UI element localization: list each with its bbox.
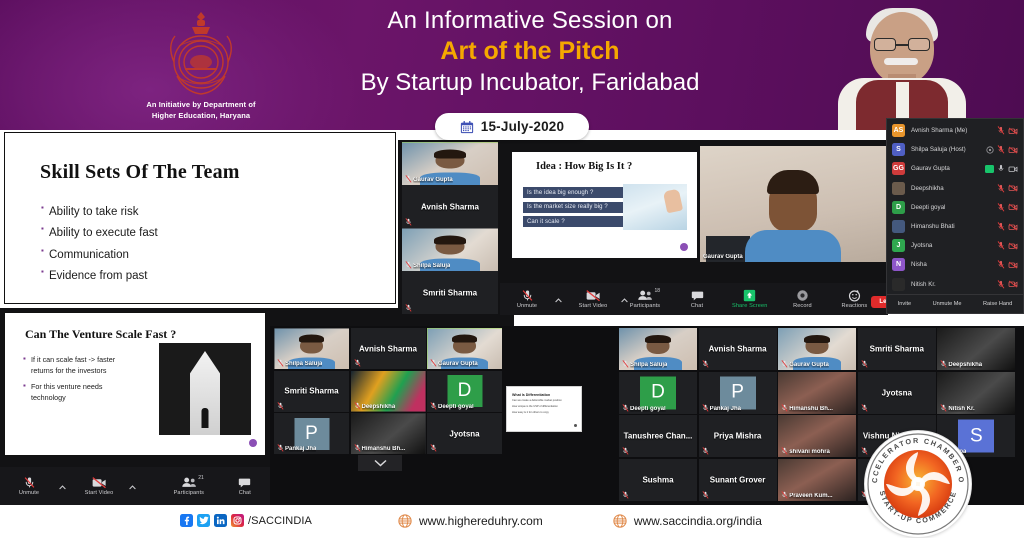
video-off-icon — [1008, 261, 1018, 269]
mic-off-icon — [997, 260, 1005, 269]
participant-name: Jyotsna — [427, 429, 502, 438]
participant-name: Avnish Sharma — [351, 344, 426, 353]
participant-name: Nisha — [911, 261, 997, 268]
portrait-glasses-icon — [874, 38, 930, 51]
participant-row[interactable]: Nitish Kr. — [887, 275, 1023, 294]
participant-name: Nitish Kr. — [948, 406, 974, 412]
haryana-emblem-block: An Initiative by Department of Higher Ed… — [136, 6, 266, 122]
participant-status-icons[interactable] — [985, 164, 1018, 173]
participant-name: Deepshikha — [948, 362, 982, 368]
mic-off-icon — [405, 261, 412, 269]
video-tile[interactable]: Jyotsna — [858, 372, 936, 414]
list-item: If it can scale fast -> faster returns f… — [31, 354, 139, 376]
mic-off-icon — [997, 184, 1005, 193]
mic-off-icon — [354, 402, 361, 410]
participants-icon — [181, 476, 197, 489]
video-off-icon — [1008, 242, 1018, 250]
participants-icon — [181, 476, 197, 489]
mic-off-icon — [277, 444, 284, 452]
mic-off-icon — [521, 289, 534, 302]
invite-button[interactable]: Invite — [898, 301, 911, 307]
slide-skill-sets: Skill Sets Of The Team Ability to take r… — [4, 132, 396, 304]
video-tile[interactable]: Sunant Grover — [699, 459, 777, 501]
reactions-icon — [848, 289, 861, 302]
mic-off-icon — [405, 304, 412, 312]
slide-idea-bars: Is the idea big enough ? Is the market s… — [523, 187, 626, 231]
participant-name: Avnish Sharma — [402, 202, 498, 211]
toolbar-button-label: Chat — [691, 303, 703, 309]
header-banner: An Initiative by Department of Higher Ed… — [0, 0, 1024, 130]
video-off-icon — [91, 476, 107, 489]
participants-list: ASAvnish Sharma (Me) SShilpa Saluja (Hos… — [887, 121, 1023, 304]
facebook-icon[interactable] — [180, 514, 193, 527]
participants-count-badge: 21 — [198, 475, 204, 481]
participant-name: Sushma — [619, 475, 697, 484]
avatar: D — [447, 375, 482, 407]
mic-off-icon — [277, 402, 284, 410]
participant-status-icons[interactable] — [997, 203, 1018, 212]
video-tile[interactable]: Deepshikha — [351, 371, 426, 412]
toolbar-button-start-video[interactable]: Start Video — [82, 476, 116, 497]
video-tile[interactable]: Himanshu Bh... — [351, 413, 426, 454]
toolbar-button-label: Start Video — [579, 303, 608, 309]
participant-name: Gaurav Gupta — [438, 361, 478, 367]
globe-icon — [398, 514, 412, 528]
mic-off-icon — [997, 126, 1005, 135]
website-2-group[interactable]: www.saccindia.org/india — [613, 514, 762, 528]
participant-row[interactable]: Deepshikha — [887, 179, 1023, 198]
toolbar-button-share-screen[interactable]: Share Screen — [732, 289, 767, 310]
video-tile[interactable]: Avnish Sharma — [351, 328, 426, 369]
video-off-icon — [585, 289, 601, 302]
mic-off-icon — [997, 222, 1005, 231]
toolbar-button-label: Start Video — [85, 490, 114, 496]
screen-share-badge — [985, 165, 994, 173]
video-off-icon — [1008, 146, 1018, 154]
video-tile[interactable]: Shilpa Saluja — [619, 328, 697, 370]
caret-up-icon — [129, 485, 136, 490]
mic-off-icon — [622, 491, 629, 499]
mic-off-icon — [622, 447, 629, 455]
toolbar-button-label: Chat — [239, 490, 251, 496]
haryana-emblem-icon — [161, 6, 241, 98]
participant-name: Gaurav Gupta — [911, 165, 985, 172]
toolbar-button-label: Reactions — [842, 303, 868, 309]
video-off-icon — [1008, 127, 1018, 135]
toolbar-button-record[interactable]: Record — [785, 289, 819, 310]
video-tile[interactable]: Smriti Sharma — [402, 271, 498, 314]
mic-off-icon — [622, 404, 629, 412]
toolbar-button-reactions[interactable]: Reactions — [837, 289, 871, 310]
video-off-icon — [1008, 280, 1018, 288]
mini-slide-line: Can we create a defensible market positi… — [512, 399, 581, 403]
mini-slide-window: What Is Differentiation Can we create a … — [506, 386, 582, 432]
participant-name: Praveen Kum... — [789, 493, 832, 499]
linkedin-icon[interactable] — [214, 514, 227, 527]
website-2-text: www.saccindia.org/india — [634, 514, 762, 528]
toolbar-button-participants[interactable]: 21 Participants — [172, 476, 206, 497]
video-tile[interactable]: Gaurav Gupta — [402, 142, 498, 185]
slide-venture-scale: Can The Venture Scale Fast ? If it can s… — [4, 312, 266, 456]
mic-off-icon — [354, 444, 361, 452]
avatar: N — [892, 258, 905, 271]
video-tile-name: Gaurav Gupta — [703, 254, 743, 260]
mic-off-icon — [430, 444, 437, 452]
mic-off-icon — [702, 360, 709, 368]
annotation-dot — [249, 439, 257, 447]
session-date-text: 15-July-2020 — [481, 119, 564, 134]
list-item: Communication — [49, 245, 395, 266]
website-1-text: www.highereduhry.com — [419, 514, 543, 528]
mic-off-icon — [405, 218, 412, 226]
toolbar-button-label: Participants — [174, 490, 204, 496]
video-tile[interactable]: Avnish Sharma — [402, 185, 498, 228]
toolbar-button-start-video[interactable]: Start Video — [576, 289, 610, 310]
video-off-icon — [1008, 203, 1018, 211]
avatar: D — [892, 201, 905, 214]
slide-skill-title: Skill Sets Of The Team — [40, 161, 395, 184]
caret-up-icon — [555, 298, 562, 303]
archway-image — [159, 343, 251, 435]
slide-skill-bullets: Ability to take risk Ability to execute … — [49, 202, 395, 287]
video-tile[interactable]: PPankaj Jha — [274, 413, 349, 454]
video-tile[interactable]: Nitish Kr. — [937, 372, 1015, 414]
avatar: AS — [892, 124, 905, 137]
participants-icon — [637, 289, 653, 302]
avatar: D — [640, 376, 676, 409]
toolbar-button-unmute[interactable]: Unmute — [12, 476, 46, 497]
video-tile[interactable]: Tanushree Chan... — [619, 415, 697, 457]
video-off-icon — [1008, 184, 1018, 192]
slide-venture-title: Can The Venture Scale Fast ? — [25, 327, 265, 342]
mic-off-icon — [702, 491, 709, 499]
mic-off-icon — [430, 359, 437, 367]
filmstrip-column: Gaurav Gupta Avnish Sharma Shilpa Saluja… — [402, 142, 500, 314]
caret-up-icon[interactable] — [555, 290, 562, 308]
chevron-down-icon — [374, 459, 387, 467]
participant-row[interactable]: NNisha — [887, 255, 1023, 274]
video-tile[interactable]: Smriti Sharma — [858, 328, 936, 370]
mic-off-icon — [277, 359, 284, 367]
mic-off-icon — [781, 360, 788, 368]
chat-icon — [238, 476, 251, 489]
video-tile[interactable]: Jyotsna — [427, 413, 502, 454]
share-screen-icon — [743, 289, 756, 302]
video-tile[interactable]: Praveen Kum... — [778, 459, 856, 501]
video-tile[interactable]: Sushma — [619, 459, 697, 501]
participant-name: Himanshu Bh... — [789, 406, 833, 412]
list-item: Is the idea big enough ? — [523, 187, 626, 198]
video-tile[interactable]: Priya Mishra — [699, 415, 777, 457]
banner-title-line3: By Startup Incubator, Faridabad — [330, 68, 730, 98]
avatar: S — [892, 143, 905, 156]
participant-name: Sunant Grover — [699, 475, 777, 484]
participant-grid-middle: Shilpa Saluja Avnish Sharma Gaurav Gupta… — [274, 328, 502, 453]
video-on-icon — [1008, 165, 1018, 173]
video-tile[interactable]: Shilpa Saluja — [274, 328, 349, 369]
participant-row[interactable]: GGGaurav Gupta — [887, 159, 1023, 178]
mic-off-icon — [940, 360, 947, 368]
mini-slide-line: How easy is it for others to copy — [512, 411, 581, 415]
mini-slide-title: What Is Differentiation — [512, 393, 581, 397]
participant-name: Shilpa Saluja — [413, 263, 450, 269]
participant-name: Avnish Sharma (Me) — [911, 127, 997, 134]
chat-icon — [238, 476, 251, 489]
toolbar-button-chat[interactable]: Chat — [228, 476, 262, 497]
slide-idea-image — [623, 184, 687, 230]
avatar: GG — [892, 162, 905, 175]
participant-status-icons[interactable] — [997, 260, 1018, 269]
mic-off-icon — [997, 145, 1005, 154]
list-item: Ability to take risk — [49, 202, 395, 223]
participant-name: Deepti goyal — [438, 404, 474, 410]
participant-name: Nitish Kr. — [911, 281, 997, 288]
mic-off-icon — [781, 404, 788, 412]
list-item: Evidence from past — [49, 266, 395, 287]
instagram-icon[interactable] — [231, 514, 244, 527]
avatar — [892, 182, 905, 195]
archway-figure — [202, 408, 209, 428]
banner-title-block: An Informative Session on Art of the Pit… — [330, 6, 730, 98]
annotation-dot — [680, 243, 688, 251]
participant-name: Jyotsna — [858, 388, 936, 397]
video-tile-gaurav-gupta-large[interactable]: Gaurav Gupta — [700, 146, 886, 262]
saac-logo: ACCELERATOR CHAMBER OF START-UP COMMERCE — [864, 430, 972, 538]
video-tile[interactable]: Deepshikha — [937, 328, 1015, 370]
participant-name: Gaurav Gupta — [413, 177, 453, 183]
participant-row[interactable]: ASAvnish Sharma (Me) — [887, 121, 1023, 140]
video-off-icon — [585, 289, 601, 302]
mic-off-icon — [23, 476, 36, 489]
toolbar-button-label: Unmute — [517, 303, 537, 309]
caret-up-icon[interactable] — [621, 290, 628, 308]
banner-title-line2: Art of the Pitch — [330, 35, 730, 68]
participant-row[interactable]: JJyotsna — [887, 236, 1023, 255]
mic-off-icon — [702, 447, 709, 455]
mic-off-icon — [997, 203, 1005, 212]
participant-name: Deepshikha — [911, 185, 997, 192]
list-item: Is the market size really big ? — [523, 202, 626, 213]
video-tile[interactable]: DDeepti goyal — [427, 371, 502, 412]
session-date-pill: 15-July-2020 — [435, 113, 589, 140]
website-1-group[interactable]: www.highereduhry.com — [398, 514, 543, 528]
toolbar-button-label: Record — [793, 303, 812, 309]
mini-slide-line: How unique is the USP of differentiation — [512, 405, 581, 409]
avatar — [892, 278, 905, 291]
mic-off-icon — [354, 359, 361, 367]
mic-off-icon — [861, 360, 868, 368]
participants-panel: ASAvnish Sharma (Me) SShilpa Saluja (Hos… — [886, 118, 1024, 314]
mic-off-icon — [861, 404, 868, 412]
participant-name: Jyotsna — [911, 242, 997, 249]
banner-title-line1: An Informative Session on — [330, 6, 730, 35]
mic-off-icon — [521, 289, 534, 302]
slide-venture-bullets: If it can scale fast -> faster returns f… — [31, 354, 139, 404]
avatar — [892, 220, 905, 233]
host-indicator-icon — [986, 146, 994, 154]
mic-off-icon — [997, 241, 1005, 250]
video-off-icon — [91, 476, 107, 489]
participant-name: Gaurav Gupta — [789, 362, 829, 368]
unmute-me-button[interactable]: Unmute Me — [933, 301, 962, 307]
caret-up-icon — [621, 298, 628, 303]
caret-up-icon[interactable] — [129, 477, 136, 495]
emblem-caption: An Initiative by Department of Higher Ed… — [136, 100, 266, 122]
globe-icon — [613, 514, 627, 528]
video-tile[interactable]: Avnish Sharma — [699, 328, 777, 370]
list-item: For this venture needs technology — [31, 381, 139, 403]
participant-name: Pankaj Jha — [285, 446, 316, 452]
avatar: P — [294, 418, 329, 450]
participant-name: Smriti Sharma — [858, 345, 936, 354]
participant-status-icons[interactable] — [997, 126, 1018, 135]
caret-up-icon[interactable] — [59, 477, 66, 495]
mic-off-icon — [997, 280, 1005, 289]
video-tile[interactable]: PPankaj Jha — [699, 372, 777, 414]
record-icon — [796, 289, 809, 302]
participant-row[interactable]: Himanshu Bhati — [887, 217, 1023, 236]
mic-off-icon — [430, 402, 437, 410]
participant-name: shivani mohra — [789, 449, 830, 455]
participant-name: Himanshu Bhati — [911, 223, 997, 230]
mic-off-icon — [940, 404, 947, 412]
toolbar-button-participants[interactable]: 18 Participants — [628, 289, 662, 310]
video-tile[interactable]: Shilpa Saluja — [402, 228, 498, 271]
chat-icon — [691, 289, 704, 302]
participant-name: Himanshu Bh... — [362, 446, 406, 452]
social-handle-text: /SACCINDIA — [248, 515, 312, 527]
slide-idea-how-big: Idea : How Big Is It ? Is the idea big e… — [512, 152, 697, 258]
participants-panel-footer: Invite Unmute Me Raise Hand — [887, 294, 1023, 313]
poster-root: An Initiative by Department of Higher Ed… — [0, 0, 1024, 536]
raise-hand-button[interactable]: Raise Hand — [983, 301, 1012, 307]
toolbar-button-label: Share Screen — [732, 303, 767, 309]
list-item: Ability to execute fast — [49, 223, 395, 244]
participant-name: Shilpa Saluja (Host) — [911, 146, 986, 153]
participant-name: Smriti Sharma — [402, 288, 498, 297]
show-more-participants-button[interactable] — [358, 455, 402, 471]
social-group: /SACCINDIA — [180, 514, 312, 527]
video-off-icon — [1008, 223, 1018, 231]
calendar-icon — [460, 120, 474, 134]
participant-name: Deepti goyal — [911, 204, 997, 211]
mic-off-icon — [23, 476, 36, 489]
video-tile[interactable]: Gaurav Gupta — [778, 328, 856, 370]
twitter-icon[interactable] — [197, 514, 210, 527]
annotation-dot — [574, 424, 577, 427]
participant-status-icons[interactable] — [986, 145, 1018, 154]
video-tile[interactable]: shivani mohra — [778, 415, 856, 457]
participant-name: Shilpa Saluja — [285, 361, 322, 367]
participant-name: Avnish Sharma — [699, 345, 777, 354]
share-screen-icon — [743, 289, 756, 302]
participant-name: Smriti Sharma — [274, 387, 349, 396]
slide-idea-title: Idea : How Big Is It ? — [536, 161, 697, 172]
chat-icon — [691, 289, 704, 302]
mic-off-icon — [702, 404, 709, 412]
toolbar-button-label: Participants — [630, 303, 660, 309]
participants-icon — [637, 289, 653, 302]
video-tile[interactable]: Smriti Sharma — [274, 371, 349, 412]
participant-name: Deepti goyal — [630, 406, 666, 412]
video-tile[interactable]: Himanshu Bh... — [778, 372, 856, 414]
list-item: Can it scale ? — [523, 216, 626, 227]
reactions-icon — [848, 289, 861, 302]
video-tile[interactable]: Gaurav Gupta — [427, 328, 502, 369]
video-tile[interactable]: DDeepti goyal — [619, 372, 697, 414]
saac-logo-icon: ACCELERATOR CHAMBER OF START-UP COMMERCE — [865, 431, 971, 537]
avatar: J — [892, 239, 905, 252]
emblem-caption-l1: An Initiative by Department of — [136, 100, 266, 111]
participant-row[interactable]: SShilpa Saluja (Host) — [887, 140, 1023, 159]
participant-row[interactable]: DDeepti goyal — [887, 198, 1023, 217]
participant-name: Pankaj Jha — [710, 406, 741, 412]
emblem-caption-l2: Higher Education, Haryana — [136, 111, 266, 122]
mic-off-icon — [622, 360, 629, 368]
toolbar-button-label: Unmute — [19, 490, 39, 496]
avatar: P — [720, 376, 756, 409]
mic-on-icon — [997, 164, 1005, 173]
mic-off-icon — [405, 175, 412, 183]
participant-status-icons[interactable] — [997, 280, 1018, 289]
zoom-toolbar-middle[interactable]: Unmute Start Video 18 Participants Chat — [500, 283, 888, 315]
participant-status-icons[interactable] — [997, 184, 1018, 193]
toolbar-button-chat[interactable]: Chat — [680, 289, 714, 310]
participant-name: Deepshikha — [362, 404, 396, 410]
participant-status-icons[interactable] — [997, 222, 1018, 231]
dignitary-portrait — [816, 0, 988, 130]
participant-name: Shilpa Saluja — [630, 362, 667, 368]
caret-up-icon — [59, 485, 66, 490]
participant-status-icons[interactable] — [997, 241, 1018, 250]
mic-off-icon — [781, 491, 788, 499]
toolbar-button-unmute[interactable]: Unmute — [510, 289, 544, 310]
record-icon — [796, 289, 809, 302]
portrait-moustache — [884, 58, 918, 65]
participants-count-badge: 18 — [654, 288, 660, 294]
mic-off-icon — [781, 447, 788, 455]
participant-name: Tanushree Chan... — [619, 432, 697, 441]
participant-name: Priya Mishra — [699, 432, 777, 441]
